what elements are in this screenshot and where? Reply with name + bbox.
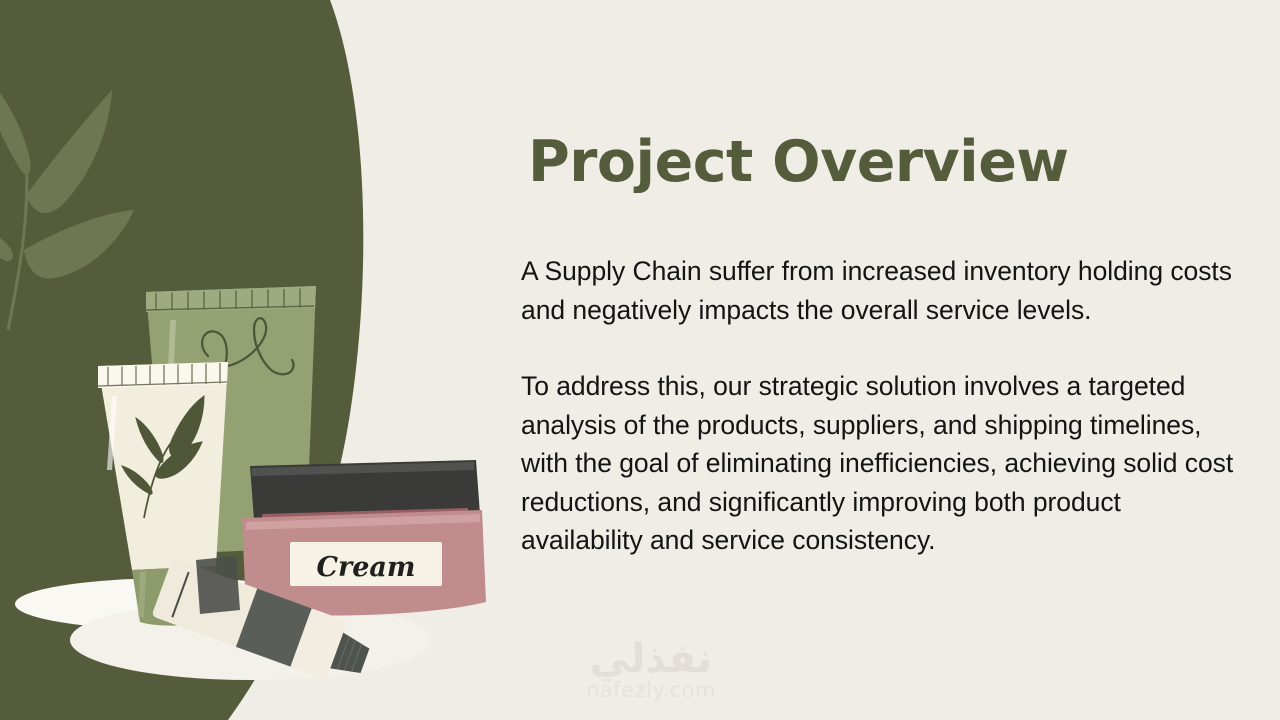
cream-jar: Cream: [242, 460, 486, 616]
slide-canvas: Cream Project Overview A Sup: [0, 0, 1280, 720]
paragraph-1: A Supply Chain suffer from increased inv…: [521, 252, 1237, 329]
body-copy: A Supply Chain suffer from increased inv…: [521, 252, 1237, 560]
illustration-panel: Cream: [0, 0, 520, 720]
paragraph-2: To address this, our strategic solution …: [521, 367, 1237, 560]
content-column: Project Overview A Supply Chain suffer f…: [519, 0, 1280, 720]
page-title: Project Overview: [528, 133, 1268, 193]
cosmetics-illustration: Cream: [0, 0, 520, 720]
cream-jar-label-text: Cream: [317, 552, 416, 583]
backdrop-gray-block: [196, 556, 240, 614]
